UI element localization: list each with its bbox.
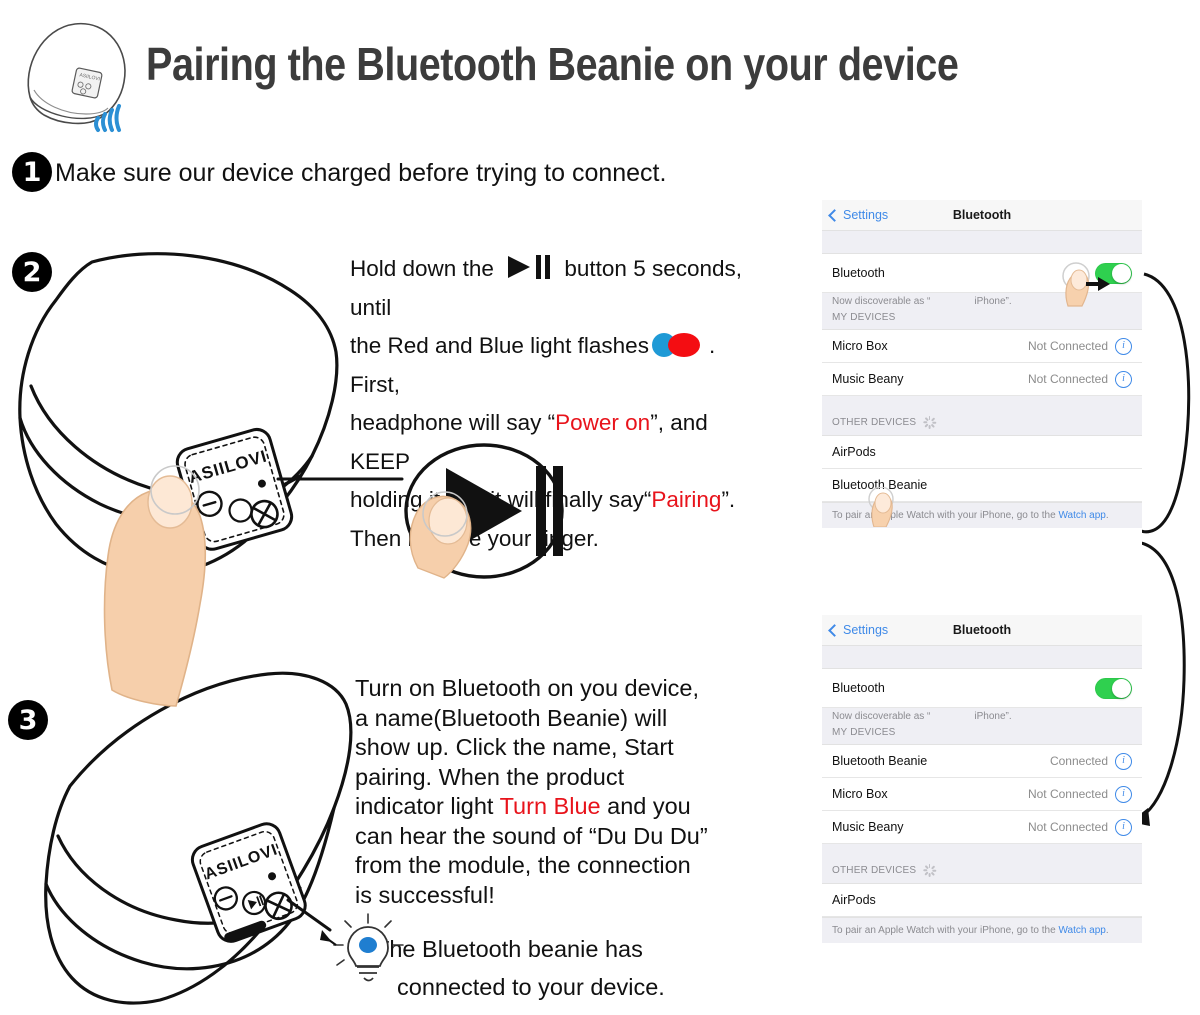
nav-bar: Settings Bluetooth (822, 200, 1142, 231)
device-name: AirPods (832, 893, 876, 907)
bluetooth-toggle-row[interactable]: Bluetooth (822, 669, 1142, 708)
device-name: Music Beany (832, 372, 904, 386)
loading-spinner-icon (923, 416, 936, 429)
device-status: Not Connected (1028, 820, 1108, 834)
discoverable-note: Now discoverable as “ iPhone”. (822, 708, 1142, 722)
device-row-airpods[interactable]: AirPods (822, 884, 1142, 917)
bluetooth-label: Bluetooth (832, 266, 885, 280)
bluetooth-settings-panel-2: Settings Bluetooth Bluetooth Now discove… (822, 615, 1142, 977)
info-icon[interactable]: i (1115, 786, 1132, 803)
device-row-micro-box[interactable]: Micro Box Not Connected i (822, 778, 1142, 811)
watch-footnote: To pair an Apple Watch with your iPhone,… (822, 917, 1142, 943)
device-name: Bluetooth Beanie (832, 754, 927, 768)
nav-spacer (822, 646, 1142, 669)
device-status: Not Connected (1028, 339, 1108, 353)
nav-spacer (822, 231, 1142, 254)
finger-tap-icon-circle (410, 492, 470, 578)
watch-app-link[interactable]: Watch app (1058, 925, 1105, 936)
beanie-illustrations: ASIILOVI ASIILOVI (0, 0, 810, 1015)
finger-tap-icon-beanie (105, 466, 206, 706)
device-row-micro-box[interactable]: Micro Box Not Connected i (822, 330, 1142, 363)
device-row-airpods[interactable]: AirPods (822, 436, 1142, 469)
device-name: Micro Box (832, 339, 888, 353)
device-status: Not Connected (1028, 372, 1108, 386)
my-devices-header: MY DEVICES (822, 722, 1142, 745)
nav-title: Bluetooth (822, 208, 1142, 222)
light-bulb-icon (320, 914, 403, 981)
device-status: Connected (1050, 754, 1108, 768)
my-devices-header: MY DEVICES (822, 307, 1142, 330)
nav-bar: Settings Bluetooth (822, 615, 1142, 646)
other-devices-header: OTHER DEVICES (822, 396, 1142, 436)
device-row-music-beany[interactable]: Music Beany Not Connected i (822, 811, 1142, 844)
finger-tap-icon (864, 487, 904, 527)
device-status: Not Connected (1028, 787, 1108, 801)
device-row-music-beany[interactable]: Music Beany Not Connected i (822, 363, 1142, 396)
finger-tap-icon (1060, 262, 1112, 308)
loading-spinner-icon (923, 864, 936, 877)
info-icon[interactable]: i (1115, 371, 1132, 388)
toggle-knob (1112, 264, 1131, 283)
info-icon[interactable]: i (1115, 753, 1132, 770)
device-row-bluetooth-beanie[interactable]: Bluetooth Beanie Connected i (822, 745, 1142, 778)
nav-title: Bluetooth (822, 623, 1142, 637)
device-name: AirPods (832, 445, 876, 459)
device-name: Micro Box (832, 787, 888, 801)
toggle-knob (1112, 679, 1131, 698)
bluetooth-label: Bluetooth (832, 681, 885, 695)
device-name: Music Beany (832, 820, 904, 834)
watch-app-link[interactable]: Watch app (1058, 510, 1105, 521)
bluetooth-toggle-row[interactable]: Bluetooth (822, 254, 1142, 293)
info-icon[interactable]: i (1115, 819, 1132, 836)
bluetooth-settings-panel-1: Settings Bluetooth Bluetooth Now discove… (822, 200, 1142, 575)
toggle-switch-on[interactable] (1095, 678, 1132, 699)
device-row-bluetooth-beanie[interactable]: Bluetooth Beanie (822, 469, 1142, 502)
other-devices-header: OTHER DEVICES (822, 844, 1142, 884)
info-icon[interactable]: i (1115, 338, 1132, 355)
